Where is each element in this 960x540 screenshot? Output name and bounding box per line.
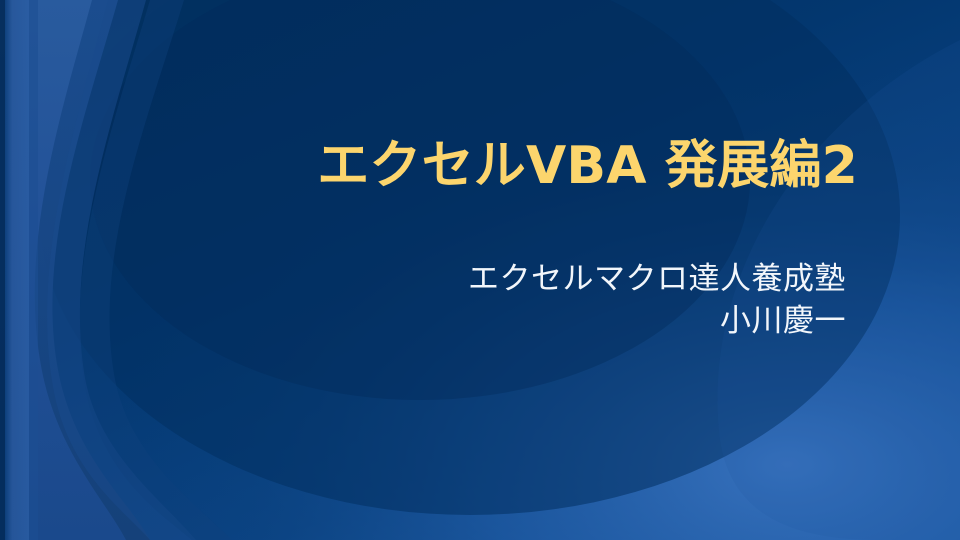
title-block: エクセルVBA 発展編2 — [120, 136, 858, 197]
subtitle-line-organization: エクセルマクロ達人養成塾 — [300, 258, 846, 300]
presentation-slide: エクセルVBA 発展編2 エクセルマクロ達人養成塾 小川慶一 — [0, 0, 960, 540]
page-title: エクセルVBA 発展編2 — [120, 136, 858, 197]
slide-content: エクセルVBA 発展編2 エクセルマクロ達人養成塾 小川慶一 — [0, 0, 960, 540]
subtitle-line-author: 小川慶一 — [300, 300, 846, 342]
subtitle-block: エクセルマクロ達人養成塾 小川慶一 — [300, 258, 846, 342]
